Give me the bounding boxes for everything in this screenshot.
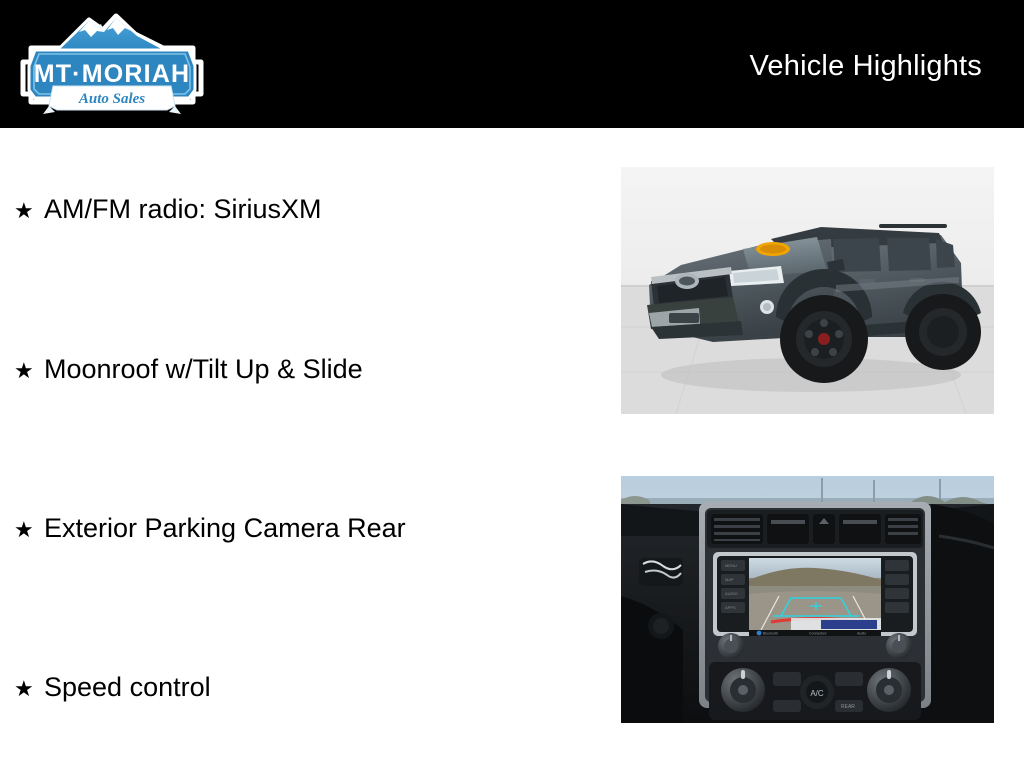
dealer-logo: MT·MORIAH Auto Sales — [17, 6, 207, 124]
svg-text:AUDIO: AUDIO — [725, 591, 738, 596]
svg-text:APPS: APPS — [725, 605, 736, 610]
svg-text:MAP: MAP — [725, 577, 734, 582]
list-item: ★ Speed control — [14, 674, 211, 701]
logo-wordmark: MT·MORIAH — [34, 60, 191, 88]
climate-left-knob — [721, 668, 765, 712]
dashboard-vents — [707, 510, 923, 548]
backup-camera-display — [749, 558, 881, 630]
highlight-label: AM/FM radio: SiriusXM — [44, 196, 322, 223]
list-item: ★ AM/FM radio: SiriusXM — [14, 196, 322, 223]
climate-right-knob — [867, 668, 911, 712]
star-bullet-icon: ★ — [14, 678, 44, 700]
climate-mode-knob: A/C — [800, 675, 834, 709]
volume-knob — [718, 633, 744, 659]
svg-text:Connected: Connected — [809, 632, 826, 636]
highlight-label: Speed control — [44, 674, 211, 701]
logo-ribbon: Auto Sales — [43, 86, 181, 114]
tune-knob — [886, 633, 912, 659]
star-bullet-icon: ★ — [14, 360, 44, 382]
slide-header: MT·MORIAH Auto Sales Vehicle Highlights — [0, 0, 1024, 128]
slide-root: MT·MORIAH Auto Sales Vehicle Highlights … — [0, 0, 1024, 768]
svg-text:A/C: A/C — [810, 689, 824, 698]
list-item: ★ Moonroof w/Tilt Up & Slide — [14, 356, 363, 383]
highlight-label: Moonroof w/Tilt Up & Slide — [44, 356, 363, 383]
svg-text:Audio: Audio — [857, 632, 866, 636]
vehicle-highlights-list: ★ AM/FM radio: SiriusXM ★ Moonroof w/Til… — [0, 128, 600, 768]
vehicle-exterior-photo — [621, 167, 994, 414]
highlight-label: Exterior Parking Camera Rear — [44, 515, 406, 542]
page-title: Vehicle Highlights — [749, 50, 982, 83]
list-item: ★ Exterior Parking Camera Rear — [14, 515, 406, 542]
star-bullet-icon: ★ — [14, 519, 44, 541]
star-bullet-icon: ★ — [14, 200, 44, 222]
svg-text:REAR: REAR — [841, 704, 855, 710]
vehicle-interior-dashboard-photo: MENU MAP AUDIO APPS — [621, 476, 994, 723]
logo-tagline: Auto Sales — [78, 91, 145, 107]
svg-text:Bluetooth: Bluetooth — [763, 632, 778, 636]
svg-text:MENU: MENU — [725, 563, 737, 568]
